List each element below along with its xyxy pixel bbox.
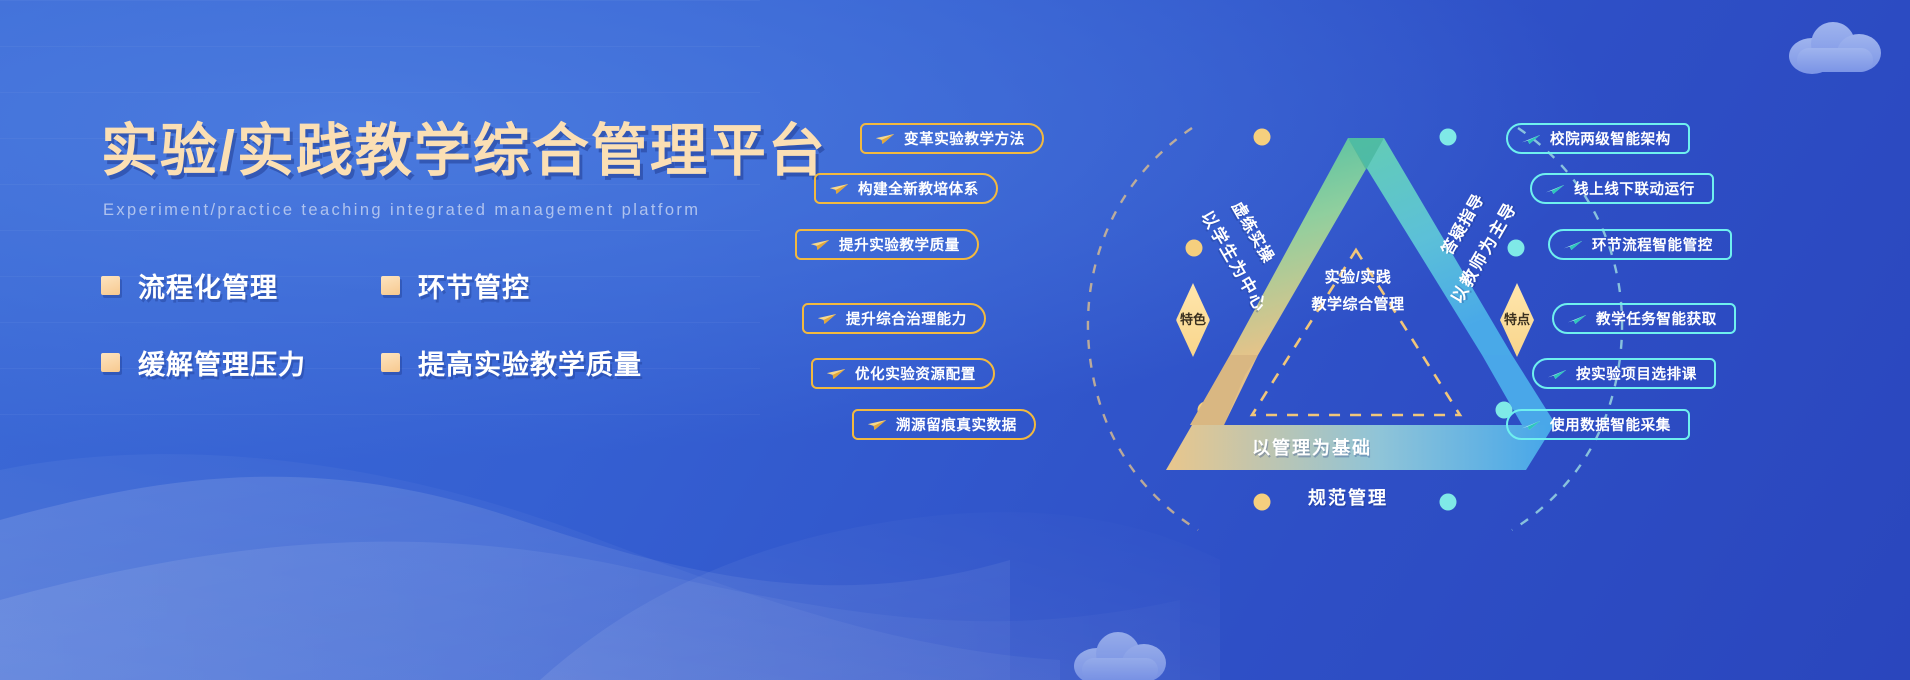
tag-label: 环节流程智能管控 xyxy=(1592,234,1713,255)
tag-label: 校院两级智能架构 xyxy=(1550,128,1671,149)
tag-label: 提升实验教学质量 xyxy=(839,234,960,255)
tag-label: 按实验项目选排课 xyxy=(1576,363,1697,384)
paper-plane-icon xyxy=(1547,367,1567,381)
tag-right-1[interactable]: 校院两级智能架构 xyxy=(1506,123,1690,154)
tag-label: 使用数据智能采集 xyxy=(1550,414,1671,435)
tag-right-5[interactable]: 按实验项目选排课 xyxy=(1532,358,1716,389)
square-bullet-icon xyxy=(101,353,120,372)
tag-label: 教学任务智能获取 xyxy=(1596,308,1717,329)
triangle-center-text: 实验/实践 教学综合管理 xyxy=(1278,264,1438,318)
tag-left-5[interactable]: 优化实验资源配置 xyxy=(811,358,995,389)
tag-right-4[interactable]: 教学任务智能获取 xyxy=(1552,303,1736,334)
outer-label-bottom: 规范管理 xyxy=(1308,484,1388,510)
tag-left-3[interactable]: 提升实验教学质量 xyxy=(795,229,979,260)
paper-plane-icon xyxy=(875,132,895,146)
feature-item: 提高实验教学质量 xyxy=(381,343,681,382)
feature-item: 环节管控 xyxy=(381,266,681,305)
tag-left-1[interactable]: 变革实验教学方法 xyxy=(860,123,1044,154)
paper-plane-icon xyxy=(1521,132,1541,146)
hero-banner: 实验/实践教学综合管理平台 Experiment/practice teachi… xyxy=(0,0,1910,680)
tag-label: 变革实验教学方法 xyxy=(904,128,1025,149)
paper-plane-icon xyxy=(817,312,837,326)
tag-label: 构建全新教培体系 xyxy=(858,178,979,199)
square-bullet-icon xyxy=(381,276,400,295)
tag-right-3[interactable]: 环节流程智能管控 xyxy=(1548,229,1732,260)
hero-text-block: 实验/实践教学综合管理平台 Experiment/practice teachi… xyxy=(101,118,801,382)
page-subtitle: Experiment/practice teaching integrated … xyxy=(103,201,801,220)
arc-node-gold xyxy=(1186,240,1203,257)
tag-right-2[interactable]: 线上线下联动运行 xyxy=(1530,173,1714,204)
feature-item: 流程化管理 xyxy=(101,266,381,305)
tag-label: 提升综合治理能力 xyxy=(846,308,967,329)
triangle-center-line-2: 教学综合管理 xyxy=(1278,291,1438,318)
feature-label: 流程化管理 xyxy=(138,266,278,305)
group-badge-left-label: 特色 xyxy=(1180,313,1206,327)
triangle-center-line-1: 实验/实践 xyxy=(1278,264,1438,291)
paper-plane-icon xyxy=(829,182,849,196)
feature-list: 流程化管理 环节管控 缓解管理压力 提高实验教学质量 xyxy=(101,266,801,382)
paper-plane-icon xyxy=(810,238,830,252)
concept-diagram: 以学生为中心 以教师为主导 以管理为基础 虚练实操 答疑指导 规范管理 实验/实… xyxy=(800,0,1910,680)
page-title: 实验/实践教学综合管理平台 xyxy=(101,118,801,185)
feature-item: 缓解管理压力 xyxy=(101,343,381,382)
arc-node-gold xyxy=(1254,494,1271,511)
arc-node-cyan xyxy=(1508,240,1525,257)
tag-left-4[interactable]: 提升综合治理能力 xyxy=(802,303,986,334)
arc-node-cyan xyxy=(1440,494,1457,511)
tag-left-6[interactable]: 溯源留痕真实数据 xyxy=(852,409,1036,440)
paper-plane-icon xyxy=(1563,238,1583,252)
arc-node-cyan xyxy=(1440,129,1457,146)
tag-label: 溯源留痕真实数据 xyxy=(896,414,1017,435)
triangle-bottom-edge-label: 以管理为基础 xyxy=(1252,434,1372,460)
paper-plane-icon xyxy=(1567,312,1587,326)
feature-label: 环节管控 xyxy=(418,266,530,305)
diagram-graphics xyxy=(800,0,1910,680)
arc-node-gold xyxy=(1254,129,1271,146)
square-bullet-icon xyxy=(101,276,120,295)
tag-label: 优化实验资源配置 xyxy=(855,363,976,384)
feature-label: 缓解管理压力 xyxy=(138,343,306,382)
paper-plane-icon xyxy=(867,418,887,432)
paper-plane-icon xyxy=(826,367,846,381)
paper-plane-icon xyxy=(1521,418,1541,432)
tag-right-6[interactable]: 使用数据智能采集 xyxy=(1506,409,1690,440)
feature-label: 提高实验教学质量 xyxy=(418,343,642,382)
square-bullet-icon xyxy=(381,353,400,372)
group-badge-right-label: 特点 xyxy=(1504,313,1530,327)
tag-label: 线上线下联动运行 xyxy=(1574,178,1695,199)
paper-plane-icon xyxy=(1545,182,1565,196)
tag-left-2[interactable]: 构建全新教培体系 xyxy=(814,173,998,204)
